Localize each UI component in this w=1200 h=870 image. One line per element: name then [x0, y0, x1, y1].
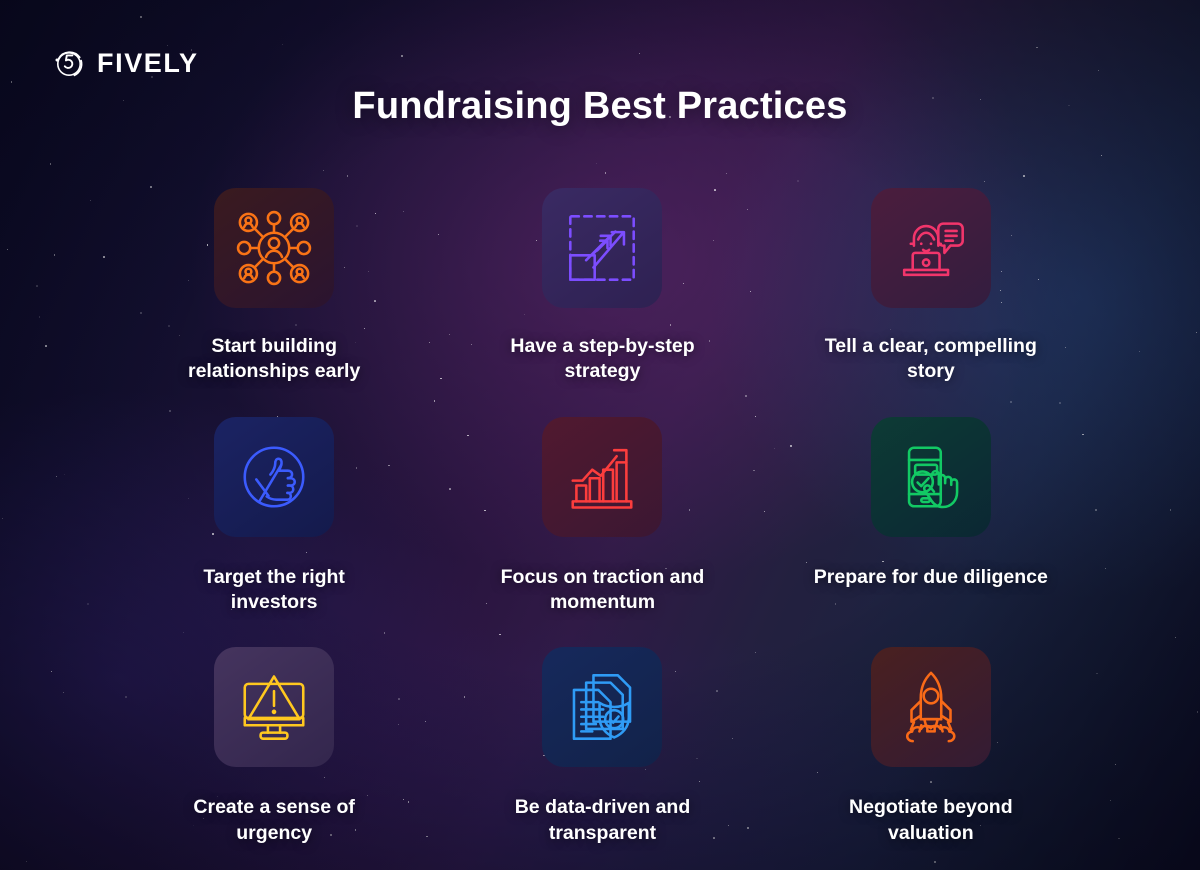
- practice-caption-prepare-for-due-diligence: Prepare for due diligence: [814, 565, 1048, 590]
- practice-icon-tile-create-a-sense-of-urgency: [214, 647, 334, 767]
- practice-card-prepare-for-due-diligence: Prepare for due diligence: [772, 417, 1090, 616]
- person-laptop-speech-bubble-icon: [892, 209, 970, 287]
- practice-caption-negotiate-beyond-valuation: Negotiate beyondvaluation: [849, 795, 1013, 846]
- documents-shield-check-icon: [563, 668, 641, 746]
- practice-card-target-the-right-investors: Target the rightinvestors: [115, 417, 433, 616]
- people-network-icon: [235, 209, 313, 287]
- dashed-box-arrows-growth-icon: [563, 209, 641, 287]
- practice-card-focus-on-traction-and-momentum: Focus on traction andmomentum: [443, 417, 761, 616]
- practice-icon-tile-negotiate-beyond-valuation: [871, 647, 991, 767]
- practice-caption-focus-on-traction-and-momentum: Focus on traction andmomentum: [501, 565, 705, 616]
- practice-caption-tell-a-clear-compelling-story: Tell a clear, compellingstory: [825, 334, 1037, 385]
- practice-card-negotiate-beyond-valuation: Negotiate beyondvaluation: [772, 647, 1090, 846]
- rocket-launch-icon: [892, 668, 970, 746]
- phone-check-hand-tap-icon: [892, 438, 970, 516]
- practice-icon-tile-prepare-for-due-diligence: [871, 417, 991, 537]
- brand-name: FIVELY: [97, 48, 199, 79]
- practices-grid: Start buildingrelationships early Have a…: [115, 188, 1090, 846]
- monitor-warning-alert-icon: [235, 668, 313, 746]
- practice-icon-tile-be-data-driven-and-transparent: [542, 647, 662, 767]
- practice-card-start-building-relationships-early: Start buildingrelationships early: [115, 188, 433, 385]
- practice-icon-tile-target-the-right-investors: [214, 417, 334, 537]
- brand-logo: FIVELY: [52, 46, 199, 80]
- practice-caption-start-building-relationships-early: Start buildingrelationships early: [188, 334, 360, 385]
- practice-caption-be-data-driven-and-transparent: Be data-driven andtransparent: [515, 795, 691, 846]
- fively-spiral-logo-icon: [52, 46, 86, 80]
- practice-icon-tile-tell-a-clear-compelling-story: [871, 188, 991, 308]
- practice-card-create-a-sense-of-urgency: Create a sense ofurgency: [115, 647, 433, 846]
- page-title: Fundraising Best Practices: [0, 85, 1200, 128]
- bar-chart-growth-arrow-icon: [563, 438, 641, 516]
- practice-card-tell-a-clear-compelling-story: Tell a clear, compellingstory: [772, 188, 1090, 385]
- thumbs-up-circle-icon: [235, 438, 313, 516]
- practice-icon-tile-have-a-step-by-step-strategy: [542, 188, 662, 308]
- practice-icon-tile-focus-on-traction-and-momentum: [542, 417, 662, 537]
- practice-icon-tile-start-building-relationships-early: [214, 188, 334, 308]
- practice-card-have-a-step-by-step-strategy: Have a step-by-stepstrategy: [443, 188, 761, 385]
- practice-caption-have-a-step-by-step-strategy: Have a step-by-stepstrategy: [510, 334, 694, 385]
- practice-caption-create-a-sense-of-urgency: Create a sense ofurgency: [193, 795, 355, 846]
- practice-caption-target-the-right-investors: Target the rightinvestors: [203, 565, 345, 616]
- practice-card-be-data-driven-and-transparent: Be data-driven andtransparent: [443, 647, 761, 846]
